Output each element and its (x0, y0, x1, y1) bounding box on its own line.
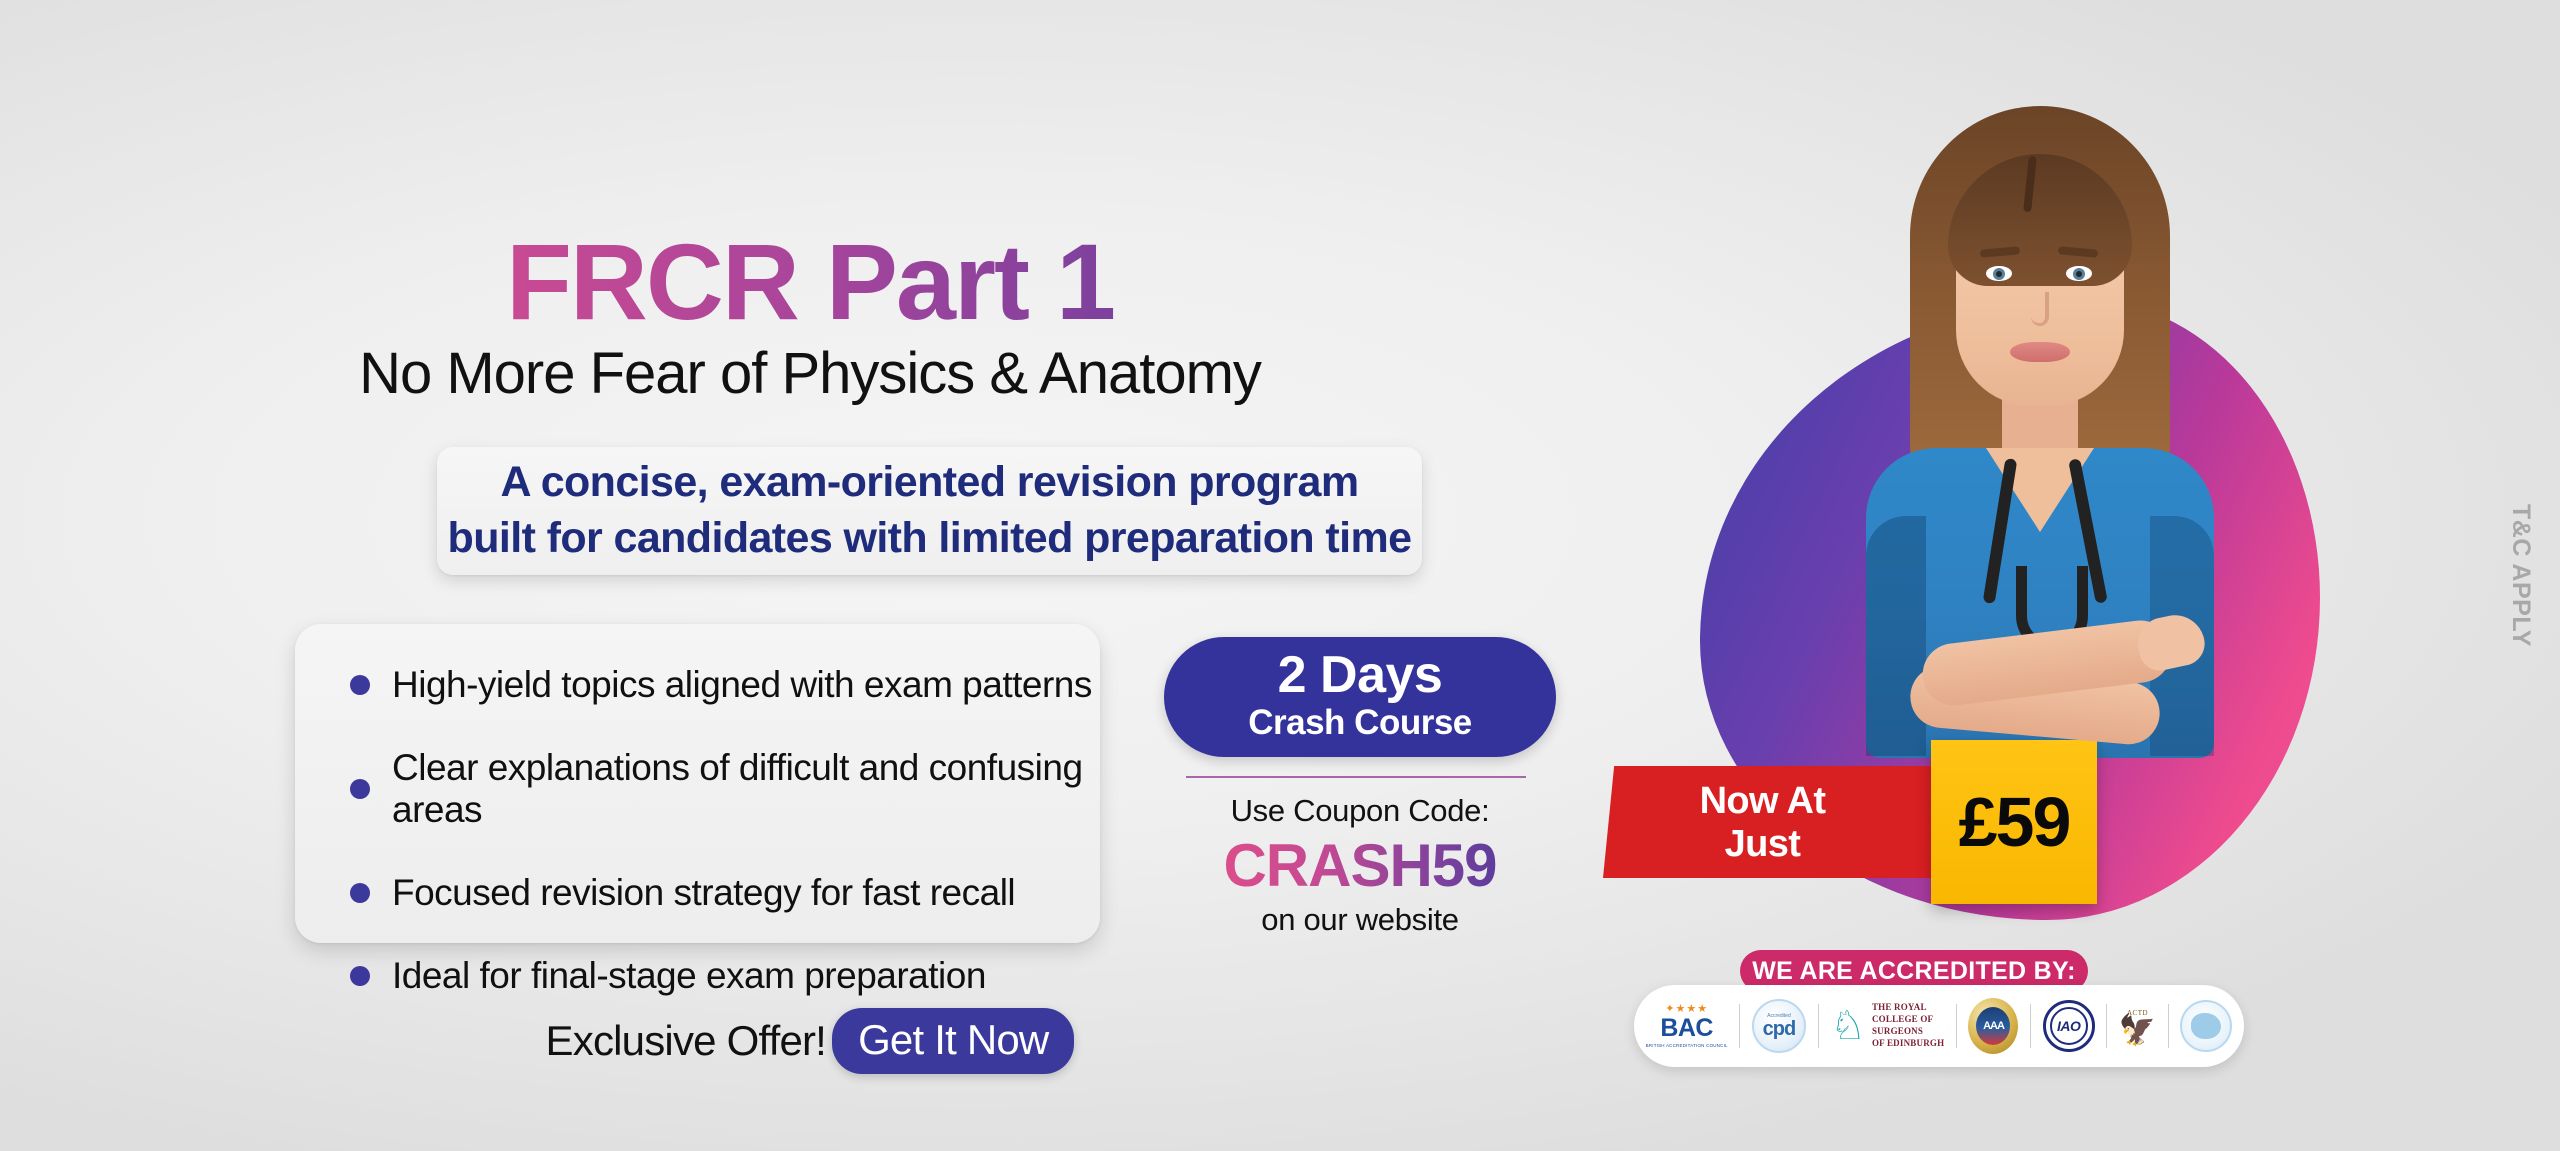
list-item: Focused revision strategy for fast recal… (350, 872, 1100, 914)
gold-seal-logo: AAA (1961, 997, 2025, 1055)
mouth (2010, 342, 2070, 362)
list-item: Ideal for final-stage exam preparation (350, 955, 1100, 997)
divider (2030, 1004, 2031, 1048)
royal-college-surgeons-edinburgh-logo: ♘ THE ROYAL COLLEGE OF SURGEONS OF EDINB… (1823, 997, 1951, 1055)
get-it-now-button[interactable]: Get It Now (832, 1008, 1074, 1074)
divider (1739, 1004, 1740, 1048)
coupon-note: on our website (1164, 902, 1556, 938)
cpd-logo: Accredited cpd (1745, 997, 1813, 1055)
divider (1186, 776, 1526, 778)
bullet-dot-icon (350, 675, 370, 695)
feature-text: High-yield topics aligned with exam patt… (392, 664, 1092, 706)
eye-right (2066, 266, 2092, 281)
europe-map-icon (2191, 1013, 2221, 1039)
cta-label: Exclusive Offer! (546, 1017, 827, 1065)
feature-text: Ideal for final-stage exam preparation (392, 955, 986, 997)
doctor-photo (1790, 96, 2290, 756)
scrubs-shadow-left (1866, 516, 1926, 756)
coupon-code[interactable]: CRASH59 (1164, 829, 1556, 902)
bac-logo: ✦★★★ BAC BRITISH ACCREDITATION COUNCIL (1639, 997, 1735, 1055)
page-title: FRCR Part 1 (0, 225, 1620, 338)
price-flag-line-1: Now At (1675, 780, 1850, 823)
content-column: FRCR Part 1 No More Fear of Physics & An… (0, 0, 1620, 1151)
course-duration-badge: 2 Days Crash Course (1164, 637, 1556, 757)
gold-seal-wordmark: AAA (1976, 1007, 2010, 1045)
price-box: £59 (1931, 740, 2097, 904)
rcsed-line-2: COLLEGE OF (1872, 1014, 1944, 1026)
divider (2168, 1004, 2169, 1048)
rcsed-wordmark: THE ROYAL COLLEGE OF SURGEONS OF EDINBUR… (1872, 1002, 1944, 1050)
divider (1818, 1004, 1819, 1048)
promo-banner: FRCR Part 1 No More Fear of Physics & An… (0, 0, 2560, 1151)
terms-label: T&C APPLY (2506, 504, 2535, 647)
divider (2106, 1004, 2107, 1048)
iao-wordmark: IAO (2050, 1007, 2088, 1045)
price-amount: £59 (1959, 782, 2070, 862)
actd-logo: ACTD 🦅 (2112, 997, 2163, 1055)
coupon-section: Use Coupon Code: CRASH59 on our website (1164, 793, 1556, 938)
description-line-2: built for candidates with limited prepar… (448, 511, 1412, 567)
divider (1956, 1004, 1957, 1048)
bullet-dot-icon (350, 779, 370, 799)
list-item: High-yield topics aligned with exam patt… (350, 664, 1100, 706)
cta-row: Exclusive Offer! Get It Now (0, 1008, 1620, 1074)
description-line-1: A concise, exam-oriented revision progra… (501, 455, 1359, 511)
rcsed-line-1: THE ROYAL (1872, 1002, 1944, 1014)
accreditation-logo-bar: ✦★★★ BAC BRITISH ACCREDITATION COUNCIL A… (1634, 985, 2244, 1067)
page-subtitle: No More Fear of Physics & Anatomy (0, 340, 1620, 407)
bac-wordmark: BAC (1660, 1016, 1713, 1041)
visual-column: Now At Just £59 WE ARE ACCREDITED BY: ✦★… (1620, 0, 2560, 1151)
coupon-label: Use Coupon Code: (1164, 793, 1556, 829)
course-duration: 2 Days (1278, 649, 1443, 701)
nose (2031, 292, 2049, 326)
iao-logo: IAO (2036, 997, 2102, 1055)
list-item: Clear explanations of difficult and conf… (350, 747, 1100, 831)
feature-text: Clear explanations of difficult and conf… (392, 747, 1100, 831)
bullet-dot-icon (350, 883, 370, 903)
european-board-seal-logo (2173, 997, 2239, 1055)
cpd-wordmark: cpd (1763, 1019, 1796, 1039)
bullet-dot-icon (350, 966, 370, 986)
rcsed-line-3: SURGEONS (1872, 1026, 1944, 1038)
unicorn-crest-icon: ♘ (1830, 1008, 1866, 1044)
feature-list-card: High-yield topics aligned with exam patt… (295, 624, 1100, 943)
bac-subtitle: BRITISH ACCREDITATION COUNCIL (1646, 1043, 1728, 1048)
feature-text: Focused revision strategy for fast recal… (392, 872, 1015, 914)
eye-left (1986, 266, 2012, 281)
eagle-crest-icon: 🦅 (2119, 1017, 2156, 1044)
price-flag-text: Now At Just (1675, 780, 1850, 865)
description-card: A concise, exam-oriented revision progra… (437, 447, 1422, 575)
course-type: Crash Course (1248, 701, 1472, 745)
rcsed-line-4: OF EDINBURGH (1872, 1038, 1944, 1050)
accredited-by-label: WE ARE ACCREDITED BY: (1752, 957, 2075, 986)
price-flag-line-2: Just (1675, 823, 1850, 866)
terms-and-conditions: T&C APPLY (2490, 0, 2550, 1151)
